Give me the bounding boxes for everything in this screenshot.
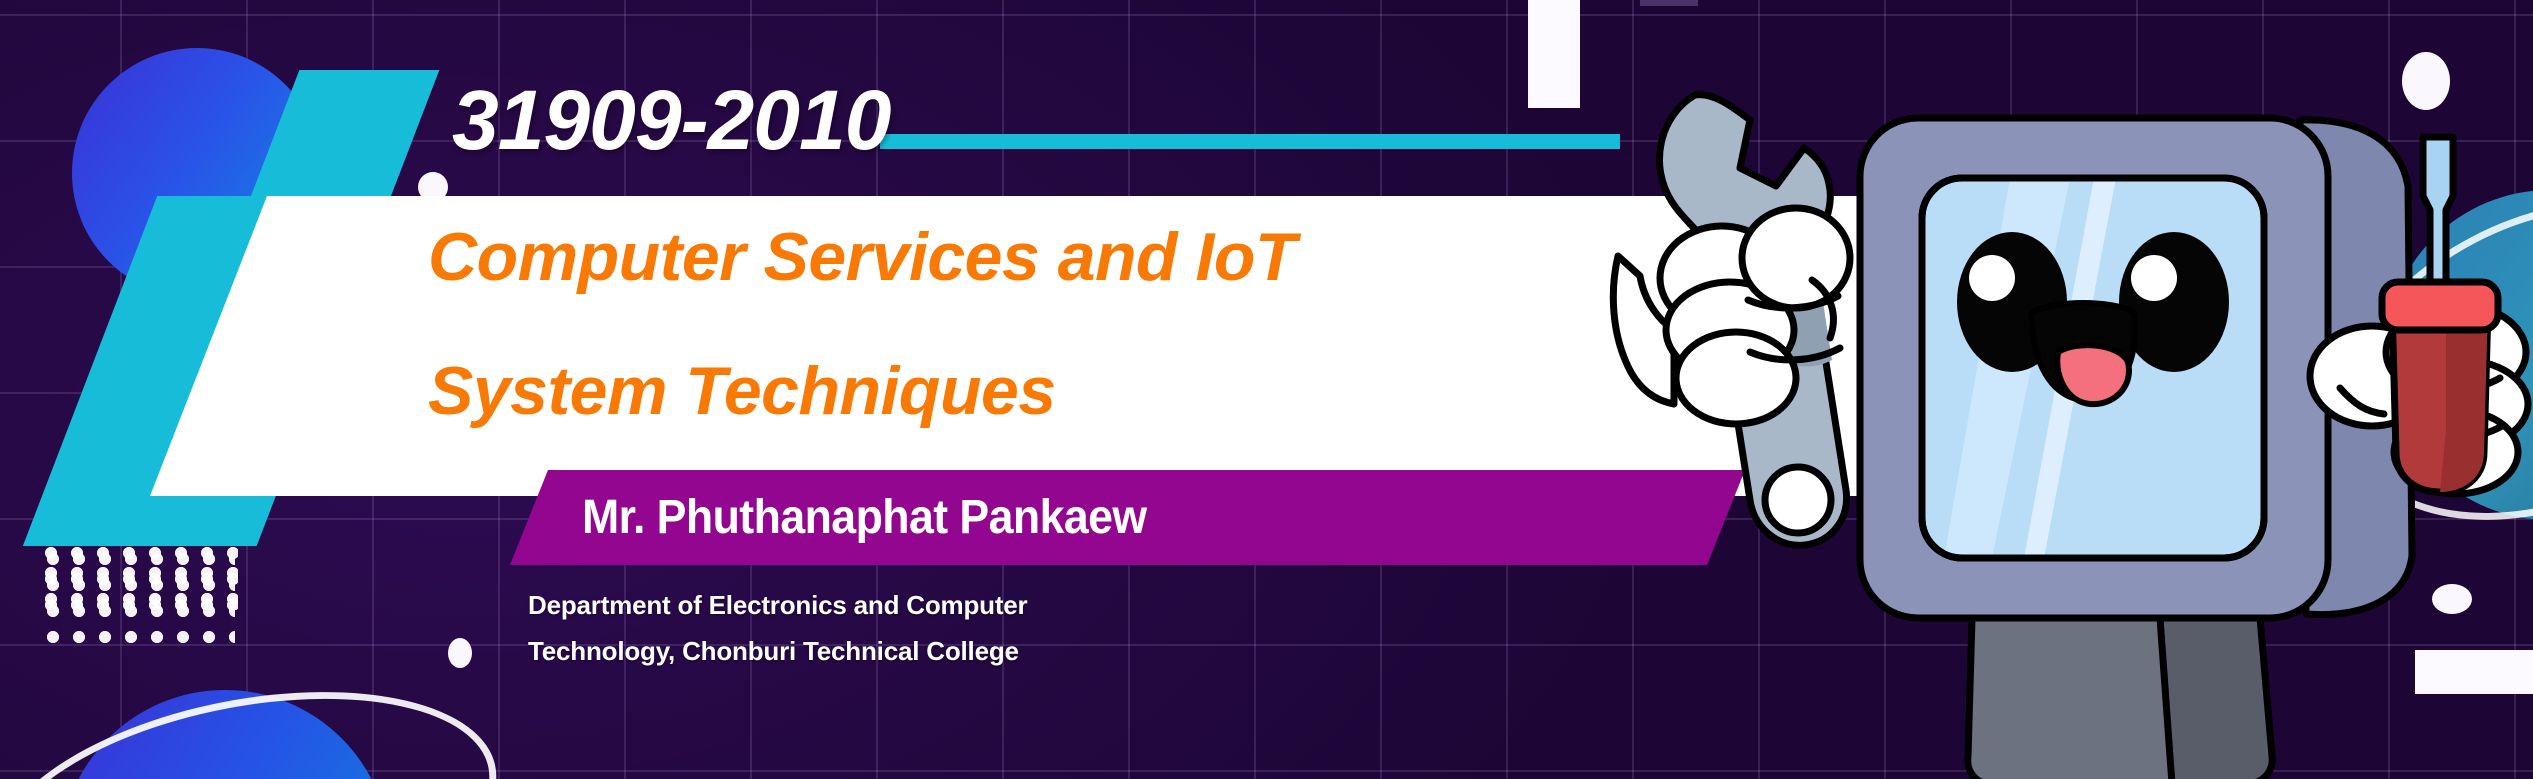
course-title-line-1: Computer Services and IoT	[428, 218, 1296, 296]
instructor-name: Mr. Phuthanaphat Pankaew	[582, 490, 1147, 545]
accent-rule	[880, 134, 1620, 149]
decor-bar-top	[1528, 0, 1580, 108]
robot-monitor-character	[1600, 0, 2533, 779]
department-line-1: Department of Electronics and Computer	[528, 582, 1027, 628]
department-text: Department of Electronics and Computer T…	[528, 582, 1027, 674]
department-line-2: Technology, Chonburi Technical College	[528, 628, 1027, 674]
dot-grid-pattern	[38, 540, 238, 610]
course-code: 31909-2010	[452, 72, 890, 169]
course-title-line-2: System Techniques	[428, 352, 1056, 430]
decor-dot	[448, 638, 472, 668]
instructor-banner: Mr. Phuthanaphat Pankaew	[510, 470, 1745, 565]
robot-base	[1968, 618, 2272, 779]
course-banner: 31909-2010 Computer Services and IoT Sys…	[0, 0, 2533, 779]
